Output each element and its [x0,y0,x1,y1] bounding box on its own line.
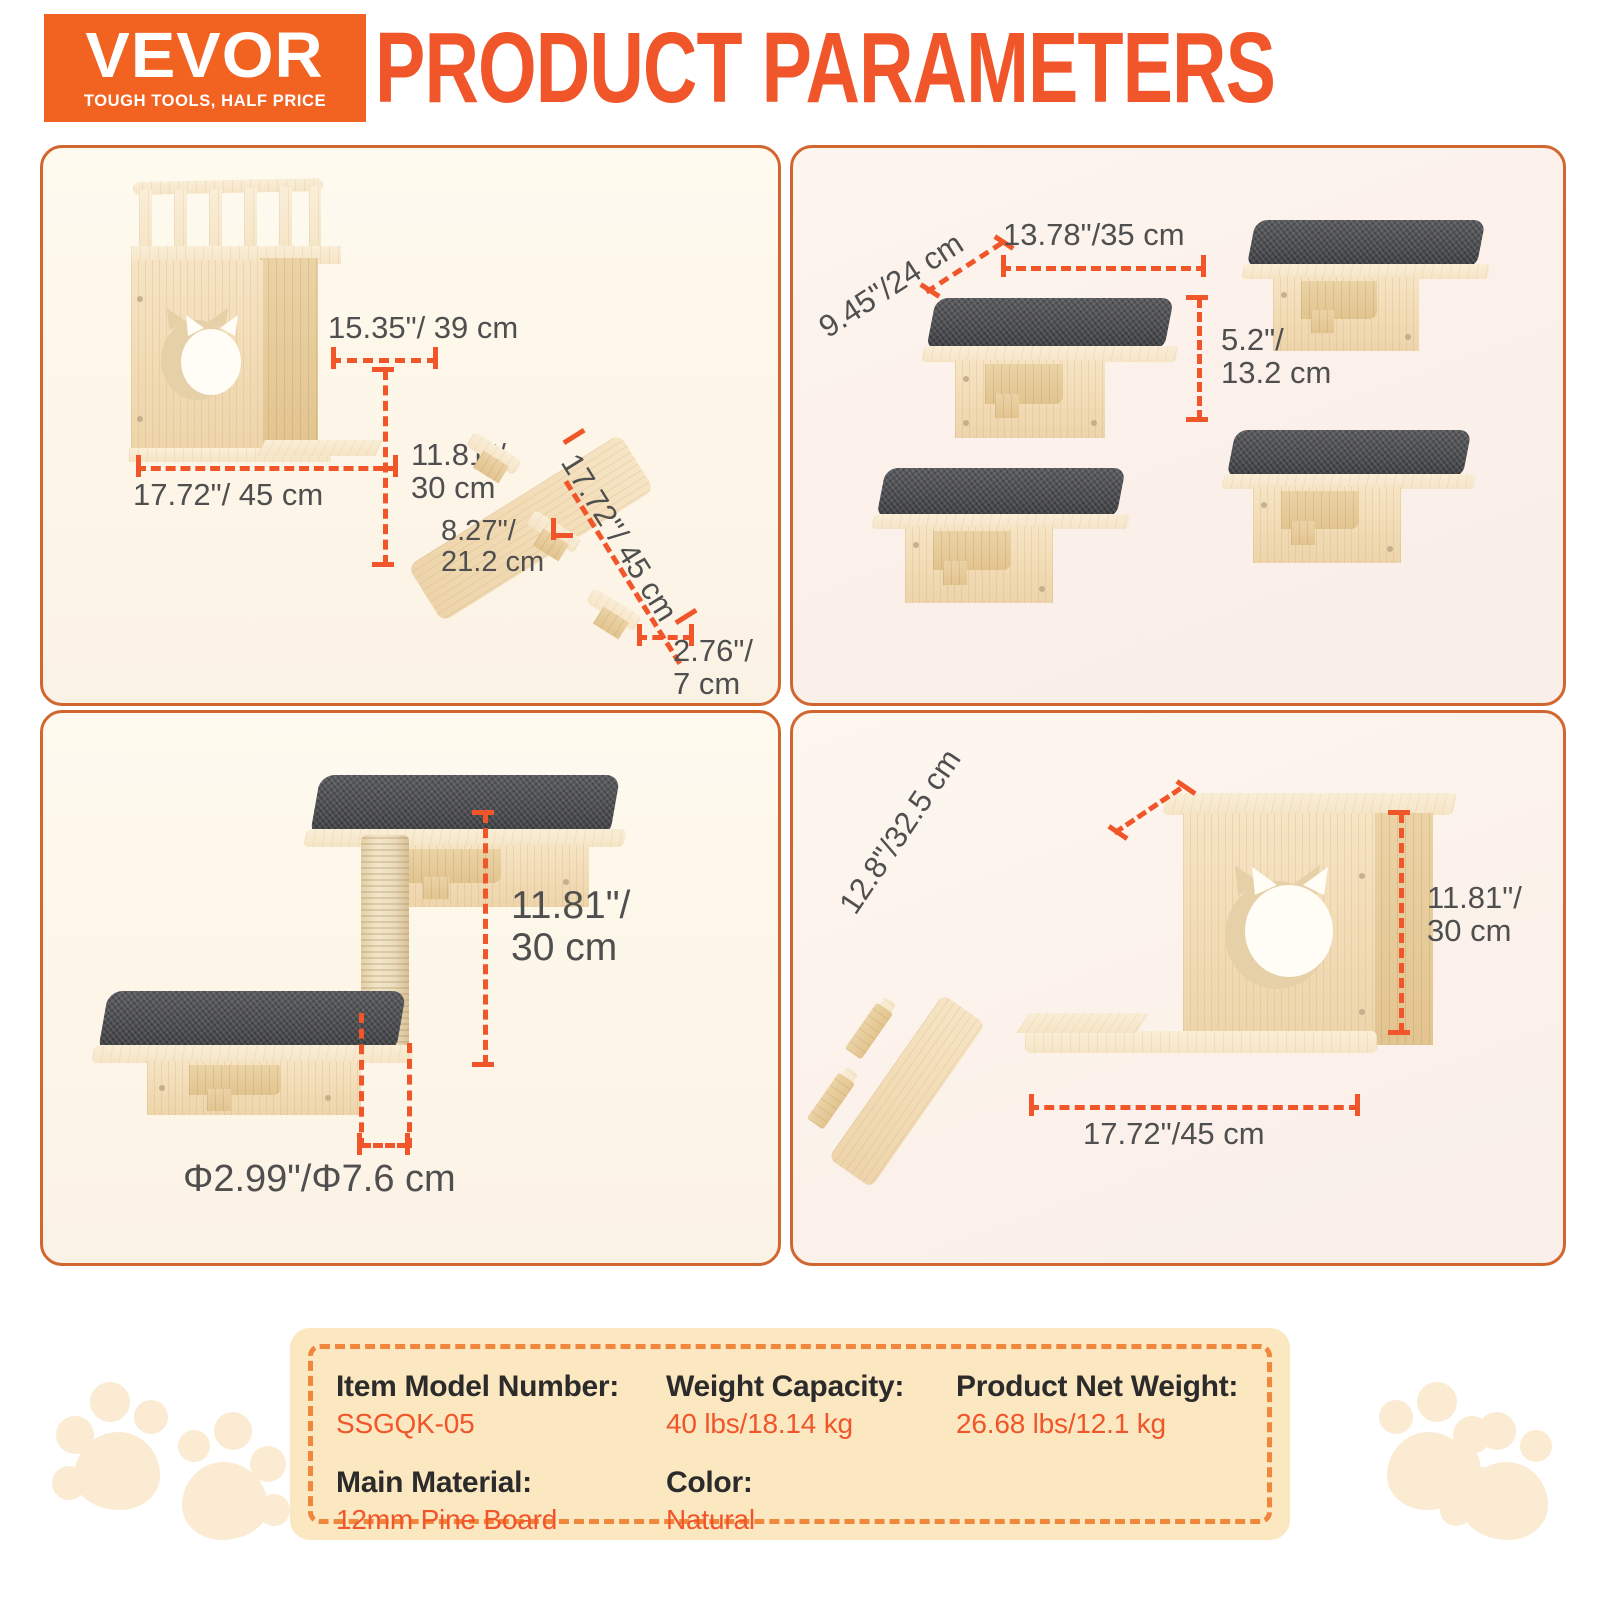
dim-label-post-diameter: Φ2.99"/Φ7.6 cm [183,1159,456,1200]
spec-item-model-number: Item Model Number: SSGQK-05 [336,1370,666,1440]
page-title: PRODUCT PARAMETERS [443,7,1207,131]
infographic-page: VEVOR TOUGH TOOLS, HALF PRICE PRODUCT PA… [0,0,1600,1600]
spec-value: SSGQK-05 [336,1408,666,1440]
dim-label-shelf-width: 13.78"/35 cm [1003,218,1185,251]
spec-value: 26.68 lbs/12.1 kg [956,1408,1250,1440]
panel-wall-shelves-set: 9.45"/24 cm 13.78"/35 cm 5.2"/ 13.2 cm [790,145,1566,706]
dim-line-base-width [136,466,398,471]
dim-line-shelf-width [1001,266,1206,271]
paw-print-left-2 [150,1400,290,1550]
spec-item-main-material: Main Material: 12mm Pine Board [336,1466,666,1536]
dim-label-shelf-height: 5.2"/ 13.2 cm [1221,323,1331,390]
dim-label-ramp-width: 2.76"/ 7 cm [673,634,753,701]
dim-label-top-platform-width: 15.35"/ 39 cm [328,311,518,344]
dim-label-ramp-step-spacing: 8.27"/ 21.2 cm [441,516,544,579]
panel-two-tier-shelf-with-post: 11.81"/ 30 cm Φ2.99"/Φ7.6 cm [40,710,781,1266]
spec-key: Main Material: [336,1466,666,1500]
spec-value: 40 lbs/18.14 kg [666,1408,956,1440]
spec-value: Natural [666,1504,956,1536]
dim-line-top-width [331,358,437,363]
dim-line-condo-height [1399,813,1404,1033]
spec-key: Product Net Weight: [956,1370,1250,1404]
panel-cat-house-with-ramp: 15.35"/ 39 cm 11.81"/ 30 cm 17.72"/ 45 c… [40,145,781,706]
vevor-logo: VEVOR TOUGH TOOLS, HALF PRICE [44,14,366,122]
logo-tagline: TOUGH TOOLS, HALF PRICE [84,92,326,111]
spec-item-color: Color: Natural [666,1466,956,1536]
spec-item-product-net-weight: Product Net Weight: 26.68 lbs/12.1 kg [956,1370,1250,1440]
cat-head-cutout-icon [131,260,263,452]
spec-key: Weight Capacity: [666,1370,956,1404]
spec-key: Item Model Number: [336,1370,666,1404]
spec-key: Color: [666,1466,956,1500]
paw-print-right-2 [1440,1400,1580,1550]
dim-label-condo-height: 11.81"/ 30 cm [1427,881,1522,948]
dim-line-post-diameter [361,1143,407,1148]
logo-wordmark: VEVOR [86,25,324,86]
dim-line-shelf-height [1197,298,1202,420]
dim-label-base-width: 17.72"/ 45 cm [133,478,323,511]
dim-label-post-height: 11.81"/ 30 cm [511,885,630,969]
spec-item-weight-capacity: Weight Capacity: 40 lbs/18.14 kg [666,1370,956,1440]
cat-head-cutout-icon [1183,813,1375,1049]
dim-label-condo-base-width: 17.72"/45 cm [1083,1117,1265,1150]
spec-value: 12mm Pine Board [336,1504,666,1536]
spec-box: Item Model Number: SSGQK-05 Weight Capac… [290,1328,1290,1540]
dim-line-post-height [483,813,488,1065]
dim-line-condo-base-width [1029,1105,1359,1110]
dim-label-condo-depth: 12.8"/32.5 cm [833,743,967,919]
panel-cat-condo-with-ramp: 12.8"/32.5 cm 11.81"/ 30 cm 17.72"/45 cm [790,710,1566,1266]
